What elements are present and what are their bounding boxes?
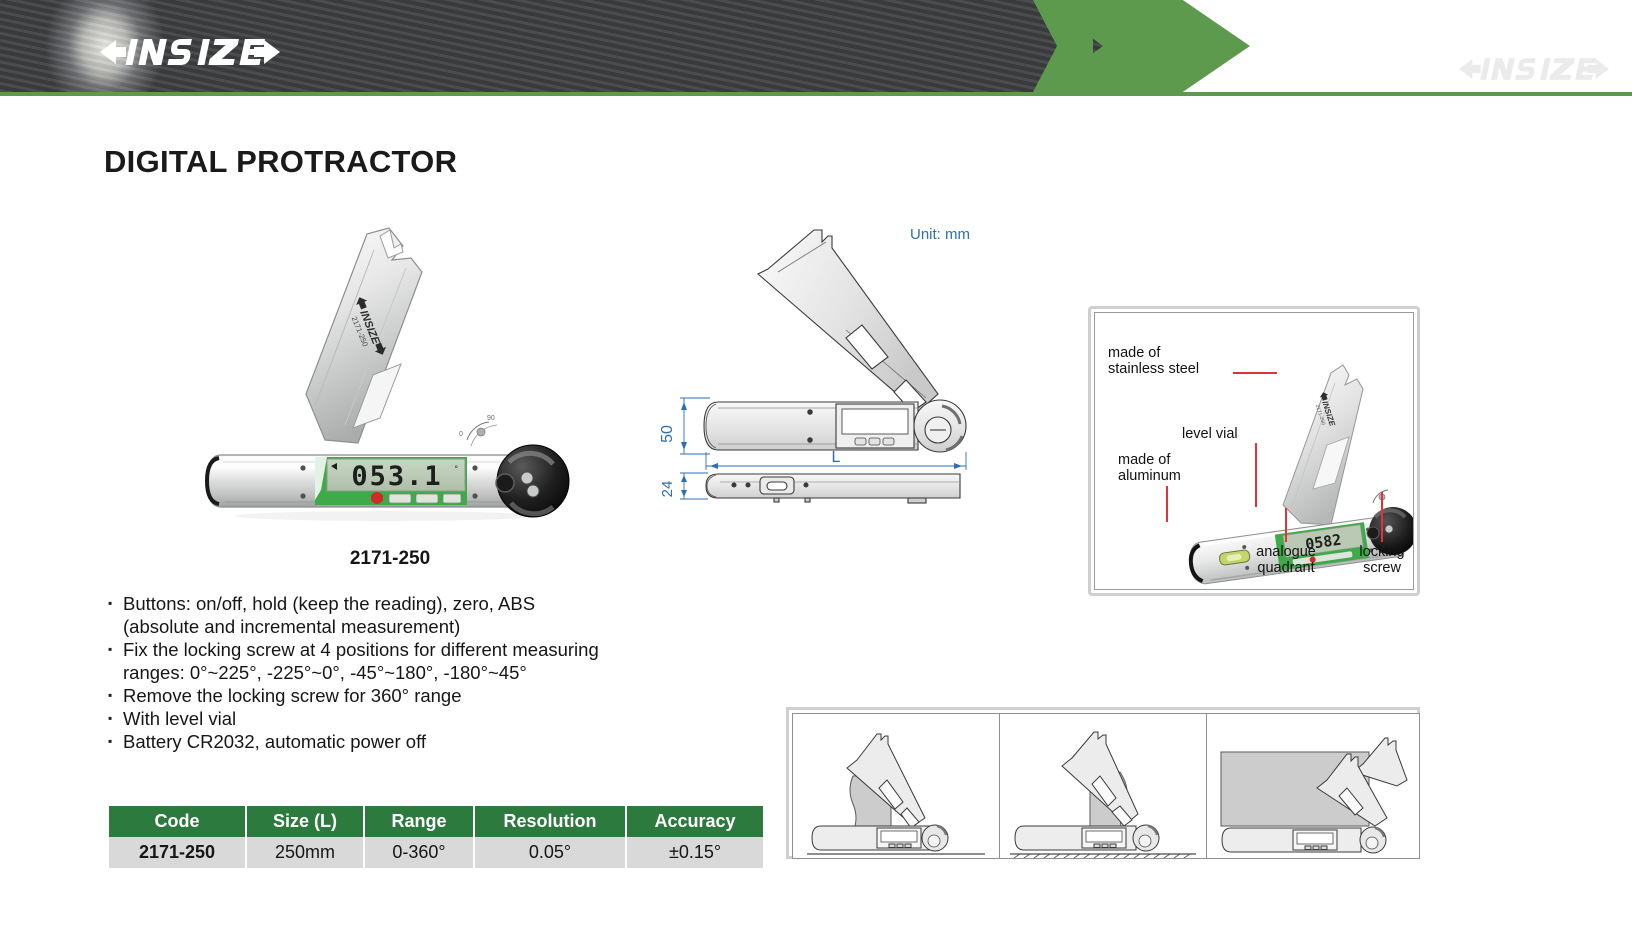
lcd-degree-symbol: ° xyxy=(454,464,458,474)
callout-aluminum: made of aluminum xyxy=(1118,452,1181,484)
panel-stainless-blade: INSIZE 2171-250 xyxy=(1283,365,1388,525)
cell-accuracy: ±0.15° xyxy=(626,837,763,868)
cell-resolution: 0.05° xyxy=(474,837,626,868)
drawing-blade xyxy=(758,230,938,412)
bullet-1-line2: ranges: 0°~225°, -225°~0°, -45°~180°, -1… xyxy=(123,662,527,683)
callout-locking-line2: screw xyxy=(1346,560,1418,576)
dim-height-label: 50 xyxy=(659,425,676,443)
bullet-4-line1: Battery CR2032, automatic power off xyxy=(123,730,708,753)
column-header-code: Code xyxy=(109,806,246,837)
svg-text:90: 90 xyxy=(487,415,495,422)
drawing-side-view xyxy=(706,474,960,503)
feature-bullet-list: ▪ Buttons: on/off, hold (keep the readin… xyxy=(108,592,708,753)
column-header-size: Size (L) xyxy=(246,806,364,837)
leader-analogue-quadrant xyxy=(1285,508,1287,542)
bullet-0-line1: Buttons: on/off, hold (keep the reading)… xyxy=(123,593,535,614)
bullet-marker: ▪ xyxy=(108,592,123,615)
leader-level-vial xyxy=(1255,443,1257,507)
leader-stainless xyxy=(1233,372,1277,374)
application-image-2 xyxy=(999,713,1207,859)
list-item: ▪ Battery CR2032, automatic power off xyxy=(108,730,708,753)
cell-size: 250mm xyxy=(246,837,364,868)
header-green-rule xyxy=(0,92,1632,96)
callout-locking-line1: locking xyxy=(1346,544,1418,560)
bullet-3-line1: With level vial xyxy=(123,707,708,730)
list-item: ▪ With level vial xyxy=(108,707,708,730)
callout-level-vial-line1: level vial xyxy=(1182,426,1238,442)
analogue-quadrant-scale: 0 90 xyxy=(459,415,497,446)
list-item: ▪ Fix the locking screw at 4 positions f… xyxy=(108,638,708,684)
application-examples-panel xyxy=(786,707,1420,859)
callout-aluminum-line2: aluminum xyxy=(1118,468,1181,484)
model-caption: 2171-250 xyxy=(175,548,605,570)
product-photo: INSIZE 2171-250 0 90 xyxy=(175,200,605,540)
technical-drawing: 50 L 24 xyxy=(650,212,1000,512)
aluminum-body: 053.1 ° xyxy=(207,455,511,507)
callout-analogue-line2: quadrant xyxy=(1240,560,1332,576)
lcd-reading: 053.1 xyxy=(351,461,442,492)
column-header-resolution: Resolution xyxy=(474,806,626,837)
page-header xyxy=(0,0,1632,96)
bullet-text: Buttons: on/off, hold (keep the reading)… xyxy=(123,592,708,638)
insize-watermark-logo xyxy=(1444,54,1624,84)
bullet-marker: ▪ xyxy=(108,730,123,753)
cell-code: 2171-250 xyxy=(109,837,246,868)
cell-range: 0-360° xyxy=(364,837,474,868)
dim-thickness-label: 24 xyxy=(659,481,676,498)
list-item: ▪ Remove the locking screw for 360° rang… xyxy=(108,684,708,707)
bullet-marker: ▪ xyxy=(108,684,123,707)
zero-button xyxy=(416,494,438,503)
table-header-row: Code Size (L) Range Resolution Accuracy xyxy=(109,806,763,837)
svg-text:0: 0 xyxy=(459,431,463,438)
application-image-3 xyxy=(1206,713,1420,859)
bullet-1-line1: Fix the locking screw at 4 positions for… xyxy=(123,639,599,660)
stainless-blade: INSIZE 2171-250 0 90 xyxy=(306,228,497,446)
bullet-text: Fix the locking screw at 4 positions for… xyxy=(123,638,708,684)
page-title: DIGITAL PROTRACTOR xyxy=(104,144,457,180)
column-header-range: Range xyxy=(364,806,474,837)
callout-stainless-line2: stainless steel xyxy=(1108,361,1199,377)
dim-length-label: L xyxy=(832,449,841,466)
hold-button xyxy=(389,494,411,503)
table-row: 2171-250 250mm 0-360° 0.05° ±0.15° xyxy=(109,837,763,868)
insize-logo xyxy=(100,34,280,70)
locking-screw-knob xyxy=(496,445,569,517)
callout-stainless-line1: made of xyxy=(1108,345,1199,361)
column-header-accuracy: Accuracy xyxy=(626,806,763,837)
callout-level-vial: level vial xyxy=(1182,426,1238,442)
callout-analogue-line1: analogue xyxy=(1240,544,1332,560)
specification-table: Code Size (L) Range Resolution Accuracy … xyxy=(109,806,763,868)
list-item: ▪ Buttons: on/off, hold (keep the readin… xyxy=(108,592,708,638)
bullet-2-line1: Remove the locking screw for 360° range xyxy=(123,684,708,707)
drawing-body xyxy=(704,402,928,450)
bullet-0-line2: (absolute and incremental measurement) xyxy=(123,616,460,637)
callout-locking-screw: locking screw xyxy=(1346,544,1418,576)
abs-button xyxy=(443,494,461,503)
leader-locking-screw xyxy=(1381,492,1383,542)
callout-aluminum-line1: made of xyxy=(1118,452,1181,468)
application-image-1 xyxy=(792,713,1000,859)
drawing-pivot xyxy=(914,400,966,452)
callout-stainless-steel: made of stainless steel xyxy=(1108,345,1199,377)
leader-aluminum xyxy=(1166,486,1168,522)
callout-analogue-quadrant: analogue quadrant xyxy=(1240,544,1332,576)
bullet-marker: ▪ xyxy=(108,707,123,730)
bullet-marker: ▪ xyxy=(108,638,123,661)
